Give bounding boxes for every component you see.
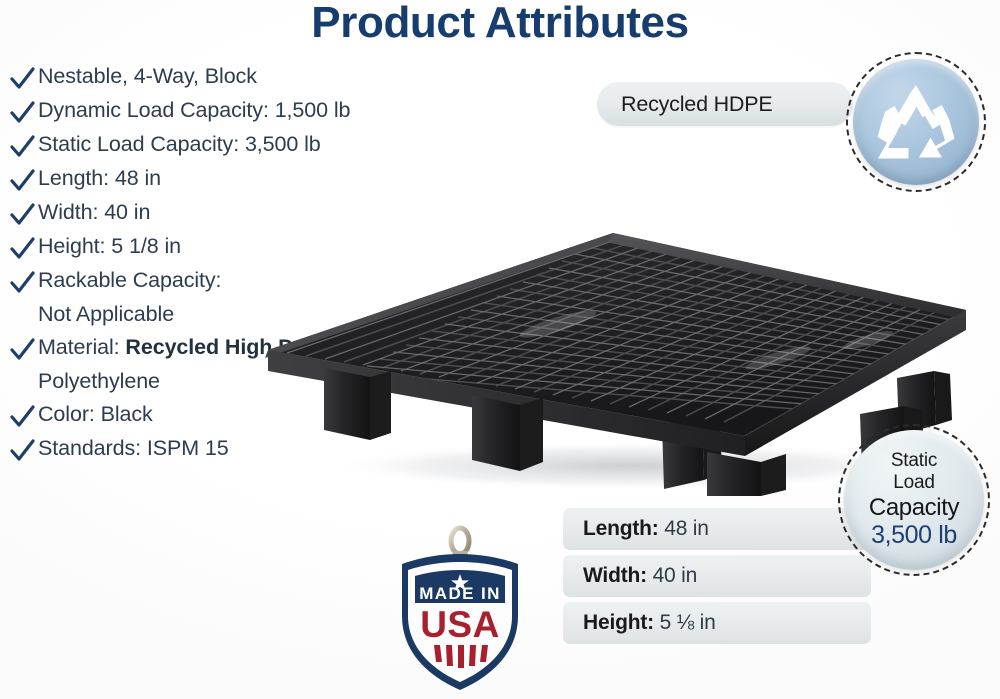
list-item-label: Rackable Capacity:: [38, 264, 221, 297]
list-item: Width: 40 in: [8, 196, 478, 229]
list-item-label: Height: 5 1/8 in: [38, 230, 181, 263]
check-icon: [8, 96, 38, 129]
check-icon: [8, 333, 38, 366]
recycle-icon: [853, 59, 979, 185]
recycle-badge: [846, 52, 986, 192]
usa-text: USA: [420, 604, 500, 645]
check-icon: [8, 434, 38, 467]
check-icon: [8, 232, 38, 265]
dimension-pill-height: Height: 5 ⅛ in: [563, 602, 871, 644]
check-icon: [8, 130, 38, 163]
dimension-value: 5 ⅛ in: [660, 611, 716, 634]
list-item-label: Nestable, 4-Way, Block: [38, 60, 257, 93]
list-item-label: Static Load Capacity: 3,500 lb: [38, 128, 321, 161]
dimension-value: 48 in: [664, 517, 709, 540]
made-in-text: MADE IN: [419, 584, 501, 603]
dimension-label: Height:: [583, 611, 654, 634]
list-item: Static Load Capacity: 3,500 lb: [8, 128, 478, 161]
dimension-text: Height: 5 ⅛ in: [583, 602, 716, 644]
static-badge-line2: Load: [893, 472, 934, 494]
recycled-hdpe-pill: Recycled HDPE: [597, 82, 853, 126]
static-badge-line1: Static: [891, 450, 937, 472]
list-item-label: Dynamic Load Capacity: 1,500 lb: [38, 94, 350, 127]
static-badge-text: Static Load Capacity 3,500 lb: [844, 430, 984, 570]
page-title: Product Attributes: [0, 0, 1000, 48]
dimension-value: 40 in: [653, 564, 698, 587]
list-item: Length: 48 in: [8, 162, 478, 195]
check-icon: [8, 62, 38, 95]
dimension-label: Width:: [583, 564, 647, 587]
list-item-label-plain: Material:: [38, 335, 125, 359]
made-in-usa-shield-icon: MADE IN USA: [384, 524, 536, 696]
static-load-capacity-badge: Static Load Capacity 3,500 lb: [838, 424, 990, 576]
list-item-label: Width: 40 in: [38, 196, 150, 229]
list-item: Dynamic Load Capacity: 1,500 lb: [8, 94, 478, 127]
check-icon: [8, 266, 38, 299]
recycled-hdpe-label: Recycled HDPE: [621, 82, 773, 126]
infographic-canvas: Product Attributes Nestable, 4-Way, Bloc…: [0, 0, 1000, 699]
check-icon: [8, 164, 38, 197]
dimension-pill-length: Length: 48 in: [563, 508, 871, 550]
list-item: Nestable, 4-Way, Block: [8, 60, 478, 93]
static-badge-line3: Capacity: [869, 494, 959, 521]
dimension-pill-width: Width: 40 in: [563, 555, 871, 597]
list-item-label: Standards: ISPM 15: [38, 432, 229, 465]
check-icon: [8, 400, 38, 433]
list-item-label: Color: Black: [38, 398, 153, 431]
dimension-label: Length:: [583, 517, 659, 540]
list-item-label: Length: 48 in: [38, 162, 161, 195]
dimension-text: Length: 48 in: [583, 508, 709, 550]
static-badge-value: 3,500 lb: [871, 521, 957, 550]
check-icon: [8, 198, 38, 231]
dimension-text: Width: 40 in: [583, 555, 697, 597]
